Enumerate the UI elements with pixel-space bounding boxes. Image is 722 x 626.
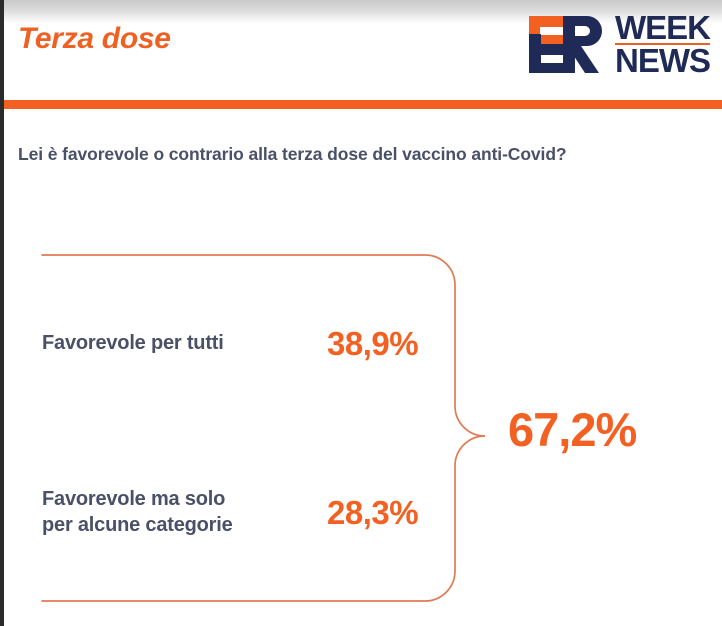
result-label: Favorevole ma solo per alcune categorie [42, 487, 327, 538]
result-row: Favorevole per tutti 38,9% [42, 325, 462, 363]
result-value: 28,3% [327, 494, 418, 532]
result-label: Favorevole per tutti [42, 331, 327, 357]
logo-wordmark: WEEK NEWS [615, 13, 710, 75]
orange-divider [0, 100, 722, 109]
page-title: Terza dose [18, 22, 171, 56]
brand-logo: WEEK NEWS [523, 12, 710, 76]
logo-word-week: WEEK [615, 13, 710, 42]
logo-word-news: NEWS [615, 46, 710, 75]
combined-total-value: 67,2% [508, 402, 636, 457]
slide-root: Terza dose WEEK NEWS Lei è favorevole o … [0, 0, 722, 626]
grouping-brace-icon [0, 230, 560, 626]
result-value: 38,9% [327, 325, 418, 363]
survey-question: Lei è favorevole o contrario alla terza … [18, 144, 718, 165]
er-monogram-icon [523, 14, 609, 74]
left-edge-strip [0, 0, 4, 626]
result-row: Favorevole ma solo per alcune categorie … [42, 487, 462, 538]
